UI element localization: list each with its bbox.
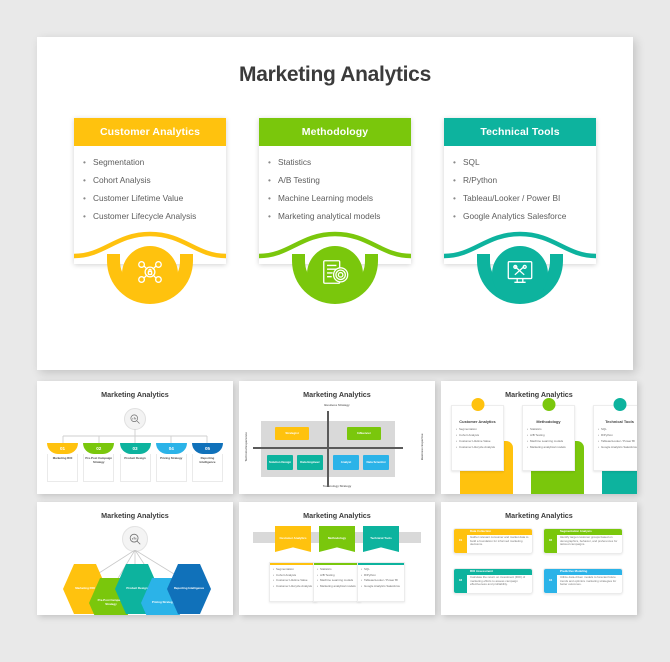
axis-label-bottom: Technology Strategy: [239, 485, 435, 489]
bullet-text: A/B Testing: [278, 176, 320, 186]
matrix-box-5[interactable]: Analyst: [333, 455, 359, 470]
mini-card-header: Customer Analytics: [456, 419, 499, 424]
mini-card-bullet: •Segmentation: [456, 428, 499, 432]
network-lock-icon: [135, 257, 165, 292]
bullet-text: Customer Lifetime Value: [459, 440, 490, 444]
bullet-text: Tableau/Looker / Power BI: [601, 440, 635, 444]
panel-bullet: •R/Python: [361, 574, 401, 578]
step-text: Utilize data-driven models to forecast f…: [560, 576, 619, 587]
bullet-text: R/Python: [601, 434, 613, 438]
column-header: Customer Analytics: [74, 118, 226, 146]
mini-card-bullet: •Customer Lifetime Value: [456, 440, 499, 444]
step-text: Calculate the return on investment (ROI)…: [470, 576, 529, 587]
bullet-item: •SQL: [453, 158, 587, 168]
mini-card-bullet: •Google Analytics Salesforce: [598, 446, 637, 450]
step-text: Gather relevant consumer and market data…: [470, 536, 529, 547]
thumbnail-title: Marketing Analytics: [37, 390, 233, 399]
matrix-wrap: StrategistInfluencerSolution DesignData …: [239, 403, 435, 491]
step-number: 03: [454, 569, 467, 593]
column-icon-circle[interactable]: [122, 246, 178, 302]
axis-label-top: Business Strategy: [239, 404, 435, 408]
bullet-text: Customer Lifecycle Analysis: [93, 212, 196, 222]
bullet-text: Statistics: [278, 158, 311, 168]
bullet-text: Segmentation: [93, 158, 144, 168]
axis-label-right: Business Expertise: [421, 423, 425, 471]
mini-card-bullet: •Tableau/Looker / Power BI: [598, 440, 637, 444]
node-label: Reporting Intelligence: [192, 454, 223, 482]
bullet-dot: •: [453, 194, 463, 204]
mini-card-header: Methodology: [527, 419, 570, 424]
org-node-3[interactable]: 03Product Design: [120, 443, 151, 482]
bullet-item: •Machine Learning models: [268, 194, 402, 204]
org-node-2[interactable]: 02Pre-Post Campaign Strategy: [83, 443, 114, 482]
thumbnail-center-icon: [122, 526, 148, 552]
ribbon-1[interactable]: Customer Analytics: [275, 526, 311, 552]
step-item-3[interactable]: 03ROI AssessmentCalculate the return on …: [453, 568, 533, 594]
node-row: 01Marketing ROI02Pre-Post Campaign Strat…: [47, 443, 223, 482]
thumbnail-title: Marketing Analytics: [441, 511, 637, 520]
mini-card[interactable]: Methodology•Statistics•A/B Testing•Machi…: [522, 405, 575, 471]
thumbnail-5[interactable]: Marketing AnalyticsCustomer Analytics•Se…: [239, 502, 435, 615]
ribbon-2[interactable]: Methodology: [319, 526, 355, 552]
bullet-item: •A/B Testing: [268, 176, 402, 186]
main-column-3: Technical Tools•SQL•R/Python•Tableau/Loo…: [444, 118, 596, 264]
bullet-dot: •: [268, 176, 278, 186]
panel-bullet: •Marketing analytical models: [317, 585, 357, 589]
bullet-text: Cohort Analysis: [276, 574, 296, 578]
panel-bullet: •Google Analytics Salesforce: [361, 585, 401, 589]
bullet-item: •Segmentation: [83, 158, 217, 168]
mini-card-bullet: •Customer Lifecycle Analysis: [456, 446, 499, 450]
thumbnail-6[interactable]: Marketing Analytics01Data CollectionGath…: [441, 502, 637, 615]
column-card[interactable]: Customer Analytics•Segmentation•Cohort A…: [74, 118, 226, 264]
column-icon-circle[interactable]: [492, 246, 548, 302]
node-number: 04: [156, 443, 187, 454]
main-column-2: Methodology•Statistics•A/B Testing•Machi…: [259, 118, 411, 264]
thumbnail-1[interactable]: Marketing Analytics01Marketing ROI02Pre-…: [37, 381, 233, 494]
step-text: Identify target customer groups based on…: [560, 536, 619, 547]
bullet-text: Segmentation: [276, 568, 294, 572]
step-header: Predictive Modeling: [557, 569, 622, 575]
bullet-dot: •: [268, 158, 278, 168]
mini-card-bullet: •Marketing analytical models: [527, 446, 570, 450]
bullet-dot: •: [268, 212, 278, 222]
mini-card-badge: [542, 398, 555, 411]
matrix-box-6[interactable]: Data Scientist: [363, 455, 389, 470]
mini-card[interactable]: Technical Tools•SQL•R/Python•Tableau/Loo…: [593, 405, 637, 471]
mini-card-bullet: •Cohort Analysis: [456, 434, 499, 438]
mini-card-bullet: •Statistics: [527, 428, 570, 432]
org-node-1[interactable]: 01Marketing ROI: [47, 443, 78, 482]
bullet-text: Statistics: [320, 568, 332, 572]
mini-card-bullet: •A/B Testing: [527, 434, 570, 438]
page-title: Marketing Analytics: [37, 63, 633, 87]
bullet-text: R/Python: [364, 574, 376, 578]
node-label: Pricing Strategy: [156, 454, 187, 482]
node-label: Pre-Post Campaign Strategy: [83, 454, 114, 482]
bullet-text: Customer Lifecycle Analysis: [459, 446, 495, 450]
bullet-text: A/B Testing: [320, 574, 335, 578]
bullet-text: Customer Lifetime Value: [276, 579, 307, 583]
bullet-text: Marketing analytical models: [530, 446, 566, 450]
main-slide[interactable]: Marketing Analytics Customer Analytics•S…: [37, 37, 633, 370]
step-content: Segmentation AnalysisIdentify target cus…: [557, 529, 622, 553]
panel-bullet: •Statistics: [317, 568, 357, 572]
panel-bullet: •Segmentation: [273, 568, 313, 572]
matrix-box-4[interactable]: Data Engineer: [297, 455, 323, 470]
step-header: ROI Assessment: [467, 569, 532, 575]
thumbnail-title: Marketing Analytics: [37, 511, 233, 520]
panel-bullet: •A/B Testing: [317, 574, 357, 578]
bullet-dot: •: [268, 194, 278, 204]
column-card[interactable]: Technical Tools•SQL•R/Python•Tableau/Loo…: [444, 118, 596, 264]
node-label: Marketing ROI: [47, 454, 78, 482]
step-number: 02: [544, 529, 557, 553]
mini-card-badge: [613, 398, 626, 411]
panel-bullet: •Machine Learning models: [317, 579, 357, 583]
bullet-item: •Customer Lifecycle Analysis: [83, 212, 217, 222]
bullet-text: Customer Lifetime Value: [93, 194, 183, 204]
column-header: Technical Tools: [444, 118, 596, 146]
bullet-text: Customer Lifecycle Analysis: [276, 585, 312, 589]
step-header: Segmentation Analysis: [557, 529, 622, 535]
ribbon-3[interactable]: Technical Tools: [363, 526, 399, 552]
mini-card-bullet: •Machine Learning models: [527, 440, 570, 444]
step-content: ROI AssessmentCalculate the return on in…: [467, 569, 532, 593]
bullet-text: R/Python: [463, 176, 497, 186]
panel-bullet: •SQL: [361, 568, 401, 572]
matrix-box-2[interactable]: Influencer: [347, 427, 381, 440]
column-bullet-list: •Segmentation•Cohort Analysis•Customer L…: [74, 146, 226, 222]
thumbnail-3[interactable]: Marketing AnalyticsCustomer Analytics•Se…: [441, 381, 637, 494]
axis-label-left: Technical Experience: [245, 423, 249, 471]
document-target-icon: [320, 257, 350, 292]
bullet-text: SQL: [601, 428, 607, 432]
bullet-text: Segmentation: [459, 428, 477, 432]
thumbnail-title: Marketing Analytics: [239, 390, 435, 399]
bullet-text: Cohort Analysis: [93, 176, 151, 186]
node-number: 01: [47, 443, 78, 454]
bullet-dot: •: [83, 176, 93, 186]
column-icon-circle[interactable]: [307, 246, 363, 302]
step-number: 01: [454, 529, 467, 553]
bullet-text: Google Analytics Salesforce: [601, 446, 637, 450]
bullet-item: •Tableau/Looker / Power BI: [453, 194, 587, 204]
step-content: Predictive ModelingUtilize data-driven m…: [557, 569, 622, 593]
bullet-dot: •: [83, 194, 93, 204]
step-header: Data Collection: [467, 529, 532, 535]
thumbnail-center-icon: [124, 408, 146, 430]
thumbnail-grid: Marketing Analytics01Marketing ROI02Pre-…: [37, 381, 637, 615]
node-label: Product Design: [120, 454, 151, 482]
step-item-4[interactable]: 04Predictive ModelingUtilize data-driven…: [543, 568, 623, 594]
bullet-text: Statistics: [530, 428, 542, 432]
panel-bullet: •Customer Lifetime Value: [273, 579, 313, 583]
mini-card-bullet: •R/Python: [598, 434, 637, 438]
bullet-text: Tableau/Looker / Power BI: [364, 579, 398, 583]
column-card[interactable]: Methodology•Statistics•A/B Testing•Machi…: [259, 118, 411, 264]
bullet-item: •Statistics: [268, 158, 402, 168]
step-item-1[interactable]: 01Data CollectionGather relevant consume…: [453, 528, 533, 554]
step-content: Data CollectionGather relevant consumer …: [467, 529, 532, 553]
bullet-text: Google Analytics Salesforce: [364, 585, 400, 589]
mini-card-holder-1: Customer Analytics•Segmentation•Cohort A…: [451, 405, 513, 485]
org-node-4[interactable]: 04Pricing Strategy: [156, 443, 187, 482]
bullet-text: SQL: [463, 158, 480, 168]
node-number: 03: [120, 443, 151, 454]
mini-card-holder-3: Technical Tools•SQL•R/Python•Tableau/Loo…: [593, 405, 637, 485]
bullet-item: •R/Python: [453, 176, 587, 186]
main-column-1: Customer Analytics•Segmentation•Cohort A…: [74, 118, 226, 264]
bullet-item: •Google Analytics Salesforce: [453, 212, 587, 222]
bullet-text: Marketing analytical models: [278, 212, 380, 222]
step-item-2[interactable]: 02Segmentation AnalysisIdentify target c…: [543, 528, 623, 554]
panel-bullet: •Tableau/Looker / Power BI: [361, 579, 401, 583]
node-number: 02: [83, 443, 114, 454]
column-header: Methodology: [259, 118, 411, 146]
bullet-text: Google Analytics Salesforce: [463, 212, 566, 222]
bullet-text: Cohort Analysis: [459, 434, 479, 438]
matrix-horizontal-axis: [253, 447, 403, 449]
column-bullet-list: •SQL•R/Python•Tableau/Looker / Power BI•…: [444, 146, 596, 222]
node-number: 05: [192, 443, 223, 454]
bullet-text: Machine Learning models: [278, 194, 373, 204]
ribbon-panel-3[interactable]: •SQL•R/Python•Tableau/Looker / Power BI•…: [357, 562, 405, 602]
monitor-tools-icon: [505, 257, 535, 292]
panel-accent: [358, 563, 404, 565]
slide-preview-page: Marketing Analytics Customer Analytics•S…: [0, 0, 670, 662]
panel-accent: [270, 563, 316, 565]
bullet-text: Machine Learning models: [530, 440, 563, 444]
matrix-box-1[interactable]: Strategist: [275, 427, 309, 440]
panel-accent: [314, 563, 360, 565]
ribbon-panel-2[interactable]: •Statistics•A/B Testing•Machine Learning…: [313, 562, 361, 602]
panel-bullet: •Customer Lifecycle Analysis: [273, 585, 313, 589]
column-bullet-list: •Statistics•A/B Testing•Machine Learning…: [259, 146, 411, 222]
bullet-item: •Marketing analytical models: [268, 212, 402, 222]
bullet-item: •Customer Lifetime Value: [83, 194, 217, 204]
step-number: 04: [544, 569, 557, 593]
bullet-text: SQL: [364, 568, 370, 572]
mini-card-holder-2: Methodology•Statistics•A/B Testing•Machi…: [522, 405, 584, 485]
bullet-item: •Cohort Analysis: [83, 176, 217, 186]
ribbon-panel-1[interactable]: •Segmentation•Cohort Analysis•Customer L…: [269, 562, 317, 602]
mini-card-header: Technical Tools: [598, 419, 637, 424]
org-node-5[interactable]: 05Reporting Intelligence: [192, 443, 223, 482]
matrix-box-3[interactable]: Solution Design: [267, 455, 293, 470]
thumbnail-4[interactable]: Marketing AnalyticsMarketing ROIPre-Post…: [37, 502, 233, 615]
mini-card[interactable]: Customer Analytics•Segmentation•Cohort A…: [451, 405, 504, 471]
main-columns-row: Customer Analytics•Segmentation•Cohort A…: [37, 118, 633, 264]
thumbnail-title: Marketing Analytics: [239, 511, 435, 520]
bullet-text: Tableau/Looker / Power BI: [463, 194, 560, 204]
bullet-text: A/B Testing: [530, 434, 545, 438]
bullet-dot: •: [83, 158, 93, 168]
mini-card-row: Customer Analytics•Segmentation•Cohort A…: [451, 405, 637, 485]
mini-card-bullet: •SQL: [598, 428, 637, 432]
bullet-dot: •: [453, 176, 463, 186]
thumbnail-2[interactable]: Marketing AnalyticsStrategistInfluencerS…: [239, 381, 435, 494]
mini-card-badge: [471, 398, 484, 411]
bullet-dot: •: [453, 158, 463, 168]
panel-bullet: •Cohort Analysis: [273, 574, 313, 578]
bullet-text: Marketing analytical models: [320, 585, 356, 589]
bullet-text: Machine Learning models: [320, 579, 353, 583]
bullet-dot: •: [83, 212, 93, 222]
thumbnail-title: Marketing Analytics: [441, 390, 637, 399]
bullet-dot: •: [453, 212, 463, 222]
